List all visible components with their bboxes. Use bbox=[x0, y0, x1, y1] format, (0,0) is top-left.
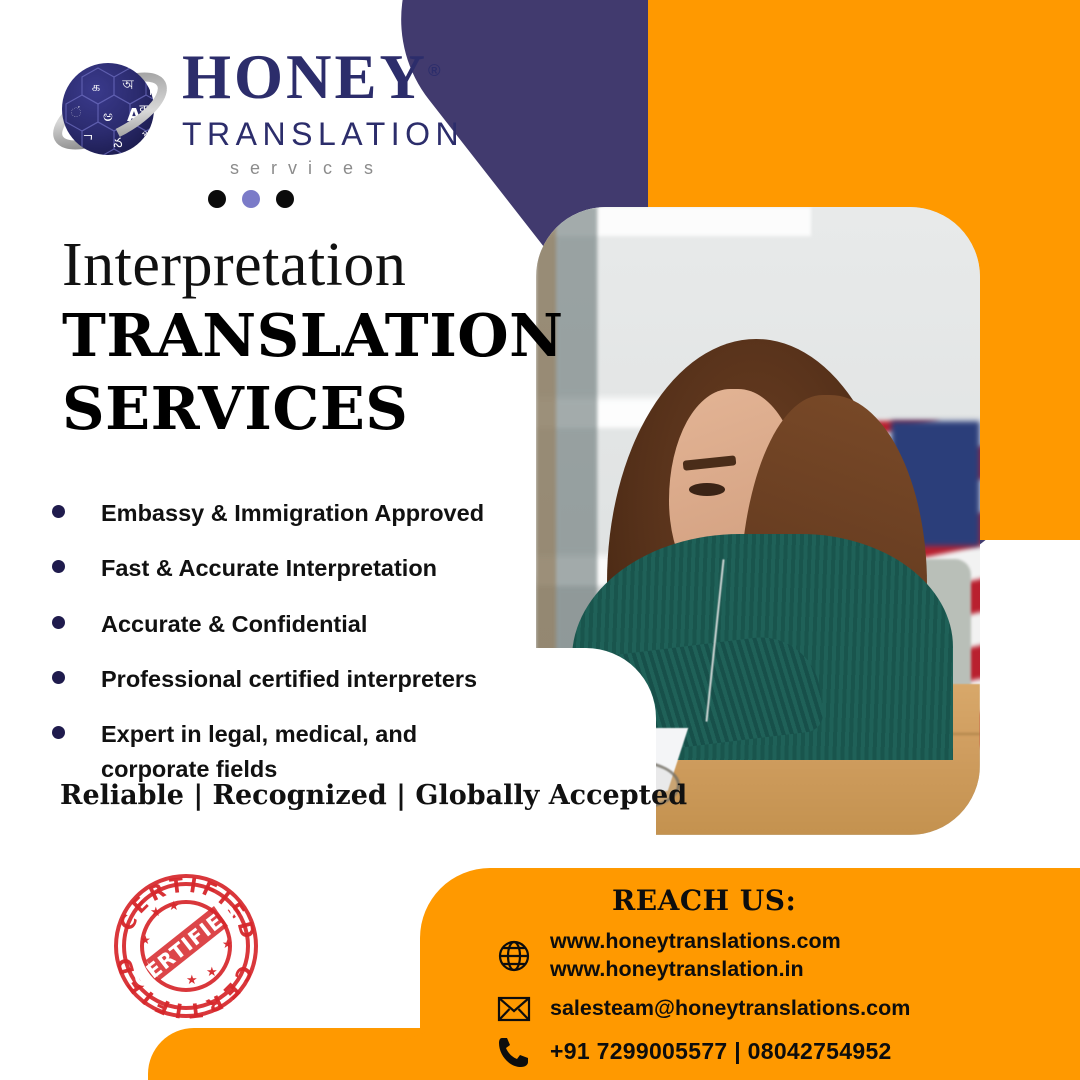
decorative-dots bbox=[208, 190, 294, 208]
bullet-dot-icon bbox=[52, 505, 65, 518]
svg-text:న: న bbox=[113, 136, 122, 151]
list-item-label: Expert in legal, medical, and corporate … bbox=[101, 717, 522, 788]
brand-logo: க অ । ં ಅ क A ᄀ న প HONEY® TRANSLATION s… bbox=[52, 46, 464, 177]
logo-brand-text: HONEY bbox=[182, 42, 428, 112]
poster-canvas: க অ । ં ಅ क A ᄀ న প HONEY® TRANSLATION s… bbox=[0, 0, 1080, 1080]
bullet-dot-icon bbox=[52, 560, 65, 573]
list-item: Fast & Accurate Interpretation bbox=[52, 551, 522, 586]
logo-wordmark: HONEY® TRANSLATION services bbox=[182, 46, 464, 177]
svg-text:।: । bbox=[148, 85, 152, 98]
svg-text:ᄀ: ᄀ bbox=[82, 134, 94, 149]
contact-list: www.honeytranslations.com www.honeytrans… bbox=[492, 928, 910, 1080]
globe-icon bbox=[492, 939, 536, 973]
svg-text:প: প bbox=[142, 128, 151, 142]
registered-mark: ® bbox=[428, 61, 444, 80]
list-item-label: Embassy & Immigration Approved bbox=[101, 496, 484, 531]
svg-text:অ: অ bbox=[121, 78, 134, 93]
svg-text:★: ★ bbox=[140, 933, 151, 947]
contact-row-email: salesteam@honeytranslations.com bbox=[492, 995, 910, 1023]
phone-icon bbox=[492, 1035, 536, 1069]
bullet-dot-icon bbox=[52, 726, 65, 739]
list-item-label: Fast & Accurate Interpretation bbox=[101, 551, 437, 586]
decorative-orange-fill bbox=[648, 0, 1080, 80]
contact-phone[interactable]: +91 7299005577 | 08042754952 bbox=[550, 1037, 892, 1066]
svg-text:★: ★ bbox=[168, 898, 180, 913]
svg-text:ં: ં bbox=[71, 106, 81, 121]
svg-text:★: ★ bbox=[206, 964, 218, 979]
website-line-1[interactable]: www.honeytranslations.com bbox=[550, 929, 841, 953]
bullet-dot-icon bbox=[52, 671, 65, 684]
globe-languages-icon: க অ । ં ಅ क A ᄀ న প bbox=[52, 51, 170, 173]
list-item: Expert in legal, medical, and corporate … bbox=[52, 717, 522, 788]
contact-row-website: www.honeytranslations.com www.honeytrans… bbox=[492, 928, 910, 983]
list-item: Professional certified interpreters bbox=[52, 662, 522, 697]
list-item-label: Professional certified interpreters bbox=[101, 662, 477, 697]
bullet-dot-icon bbox=[52, 616, 65, 629]
certified-stamp-icon: CERTIFIED CERTIFIED ★ ★ ★ ★ ★ ★ CERTIFIE… bbox=[110, 872, 262, 1020]
feature-list: Embassy & Immigration Approved Fast & Ac… bbox=[52, 496, 522, 808]
svg-text:ಅ: ಅ bbox=[103, 107, 113, 125]
logo-brand-name: HONEY® bbox=[182, 46, 464, 109]
svg-text:★: ★ bbox=[222, 937, 233, 951]
svg-text:★: ★ bbox=[150, 904, 162, 919]
envelope-icon bbox=[492, 995, 536, 1023]
headline-bold-2: SERVICES bbox=[62, 377, 564, 442]
dot-1 bbox=[208, 190, 226, 208]
svg-text:க: க bbox=[92, 80, 100, 95]
photo-eye bbox=[689, 483, 725, 496]
dot-3 bbox=[276, 190, 294, 208]
list-item-label: Accurate & Confidential bbox=[101, 607, 367, 642]
headline-script: Interpretation bbox=[62, 234, 564, 296]
headline-bold-1: TRANSLATION bbox=[62, 304, 564, 369]
logo-line-translation: TRANSLATION bbox=[182, 118, 464, 150]
contact-panel-curve bbox=[386, 962, 466, 1042]
list-item: Embassy & Immigration Approved bbox=[52, 496, 522, 531]
dot-2-accent bbox=[242, 190, 260, 208]
website-line-2[interactable]: www.honeytranslation.in bbox=[550, 957, 804, 981]
tagline: Reliable | Recognized | Globally Accepte… bbox=[60, 780, 687, 811]
contact-heading: REACH US: bbox=[612, 884, 796, 917]
contact-row-phone: +91 7299005577 | 08042754952 bbox=[492, 1035, 910, 1069]
contact-email[interactable]: salesteam@honeytranslations.com bbox=[550, 995, 910, 1023]
list-item: Accurate & Confidential bbox=[52, 607, 522, 642]
page-title: Interpretation TRANSLATION SERVICES bbox=[62, 234, 564, 442]
svg-text:★: ★ bbox=[186, 972, 198, 987]
logo-line-services: services bbox=[230, 159, 464, 177]
contact-website[interactable]: www.honeytranslations.com www.honeytrans… bbox=[550, 928, 841, 983]
